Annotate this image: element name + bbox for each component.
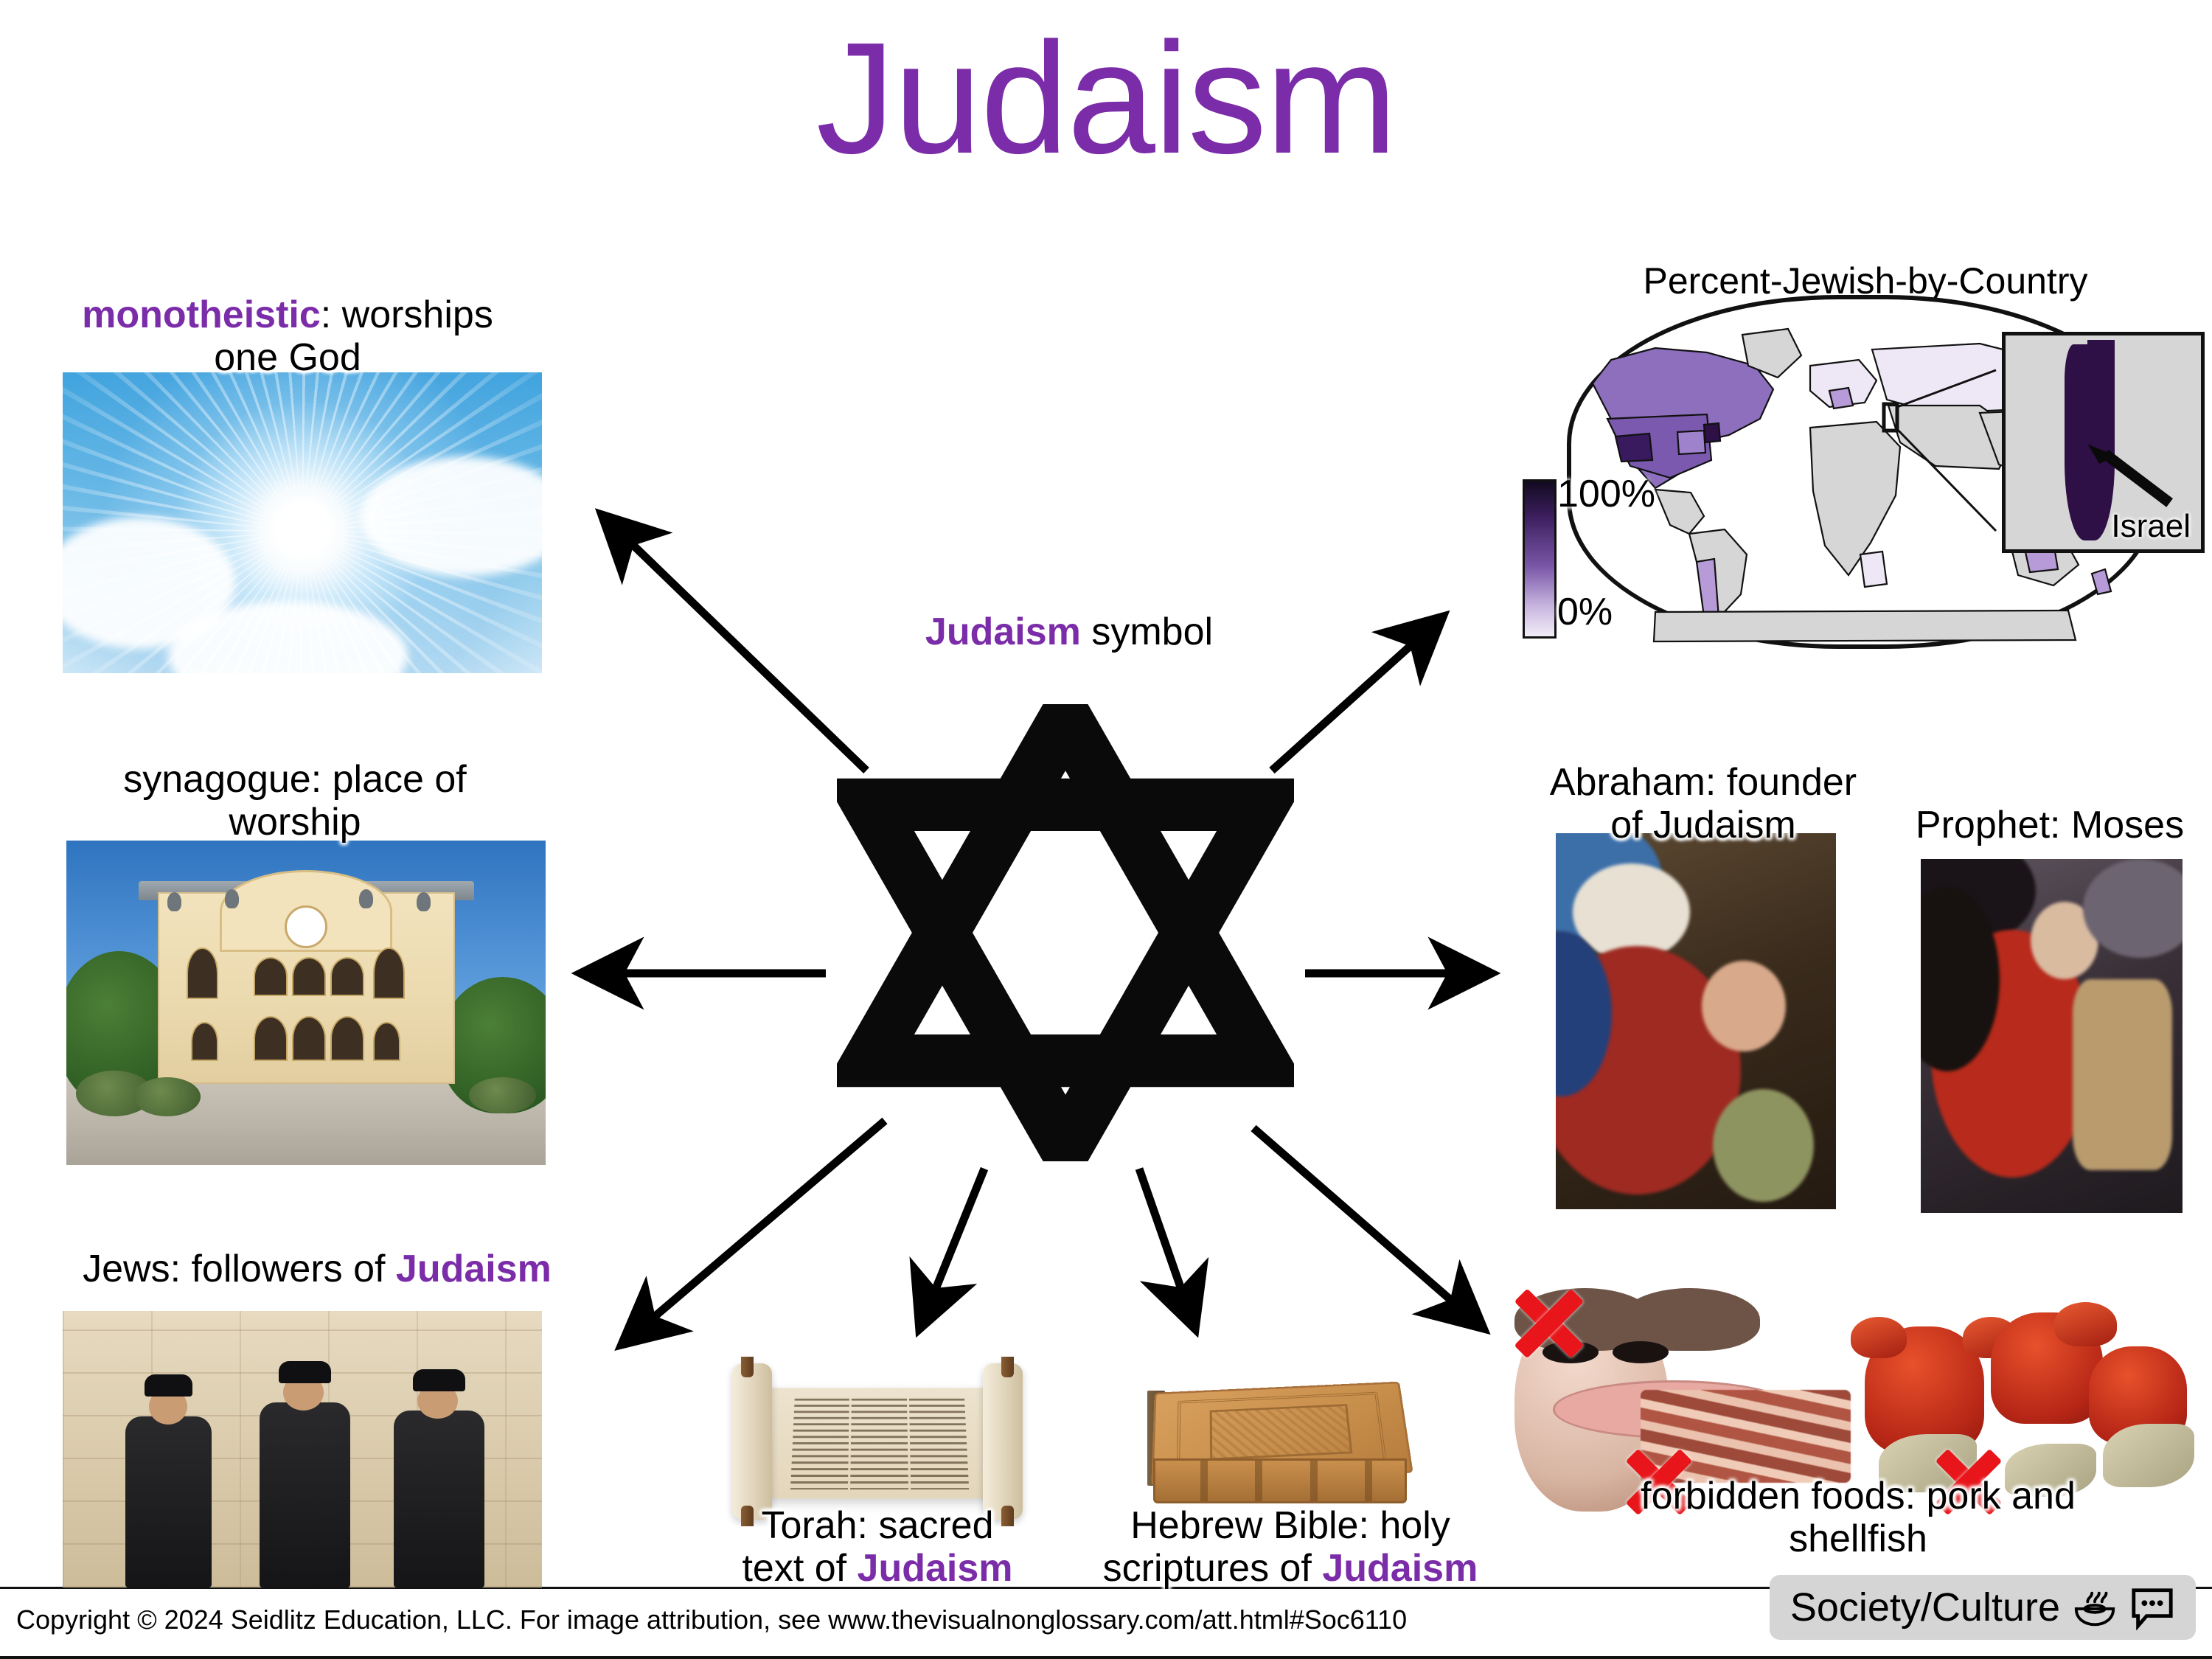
monotheistic-line1: : worships [321,293,493,336]
arrow-to-monotheistic [603,516,866,771]
moses-painting [1921,859,2183,1213]
subject-badge: Society/Culture [1770,1575,2196,1640]
synagogue-caption: synagogue: place of worship [29,758,560,844]
torah-scroll-photo [723,1357,1032,1526]
center-label-rest: symbol [1081,611,1213,653]
monotheistic-keyword: monotheistic [82,293,321,336]
israel-inset-map: Israel [2002,332,2205,553]
sunburst-sky-photo [63,372,542,673]
synagogue-line1: synagogue: place of [123,758,466,801]
hebrew-bible-keyword: Judaism [1322,1547,1478,1590]
torah-keyword: Judaism [858,1547,1013,1590]
star-of-david-icon [837,704,1294,1161]
western-wall-worshippers-photo [63,1311,542,1587]
jews-keyword: Judaism [396,1248,552,1290]
speech-bubble-icon [2129,1585,2175,1630]
legend-max-label: 100% [1557,472,1655,516]
synagogue-line2: worship [229,801,361,844]
monotheistic-caption: monotheistic: worships one God [15,293,560,379]
abraham-line1: Abraham: founder [1550,761,1857,804]
center-label: Judaism symbol [804,611,1335,653]
israel-shape-north [2087,340,2115,392]
torah-line2-plain: text of [742,1547,857,1590]
bottom-border [0,1656,2212,1659]
hebrew-bible-line2-plain: scriptures of [1103,1547,1323,1590]
poster-canvas: Judaism Judaism symbol monotheistic: [0,0,2212,1659]
arrow-to-torah [920,1169,984,1327]
jews-caption: Jews: followers of Judaism [7,1248,627,1290]
map-legend-gradient [1523,479,1557,639]
pork-and-shellfish-photo [1500,1283,2201,1526]
hebrew-bible-book-photo [1135,1357,1430,1526]
abraham-painting [1556,833,1836,1209]
moses-line1: Prophet: Moses [1916,804,2184,846]
page-title: Judaism [0,15,2212,181]
arrow-to-hebrew-bible [1139,1169,1194,1327]
legend-min-label: 0% [1557,590,1613,634]
jews-line1-plain: Jews: followers of [83,1248,396,1290]
subject-badge-label: Society/Culture [1790,1585,2060,1630]
synagogue-building-photo [66,841,546,1165]
copyright-text: Copyright © 2024 Seidlitz Education, LLC… [16,1604,1407,1635]
arrow-to-map [1272,618,1441,771]
israel-pointer-arrow [2084,438,2182,515]
israel-inset-label: Israel [2111,508,2191,545]
center-keyword: Judaism [925,611,1081,653]
steaming-bowl-icon [2072,1585,2118,1630]
moses-caption: Prophet: Moses [1880,804,2212,846]
